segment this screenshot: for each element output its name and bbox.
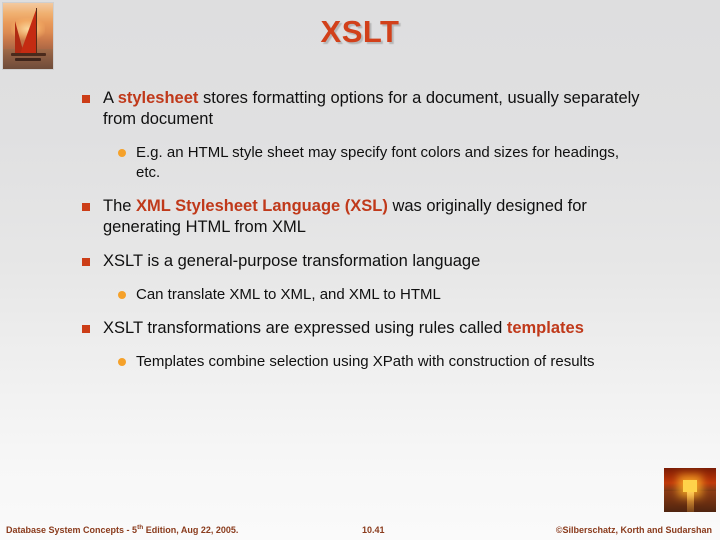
bullet-text: The XML Stylesheet Language (XSL) was or… [103, 197, 587, 236]
bullet-item-level1: XSLT is a general-purpose transformation… [82, 251, 650, 272]
dot-marker-icon [118, 149, 126, 157]
bullet-text-run: Templates combine selection using XPath … [136, 353, 595, 370]
bullet-highlight-term: XML Stylesheet Language (XSL) [136, 197, 388, 215]
bullet-item-level1: The XML Stylesheet Language (XSL) was or… [82, 196, 650, 238]
bullet-highlight-term: templates [507, 319, 584, 337]
bullet-text-run: The [103, 197, 136, 215]
bullet-item-level2: Templates combine selection using XPath … [118, 352, 645, 372]
dot-marker-icon [118, 291, 126, 299]
footer-edition-text: Database System Concepts - 5th Edition, … [6, 524, 238, 535]
bullet-text-run: E.g. an HTML style sheet may specify fon… [136, 144, 619, 181]
bullet-text-run: Can translate XML to XML, and XML to HTM… [136, 286, 441, 303]
bullet-text: XSLT is a general-purpose transformation… [103, 252, 480, 270]
hull-shape [11, 53, 46, 56]
square-marker-icon [82, 258, 90, 266]
square-marker-icon [82, 203, 90, 211]
bullet-highlight-term: stylesheet [118, 89, 199, 107]
slide-canvas: XSLT A stylesheet stores formatting opti… [0, 0, 720, 540]
bullet-text: A stylesheet stores formatting options f… [103, 89, 640, 128]
square-marker-icon [82, 325, 90, 333]
bullet-item-level1: A stylesheet stores formatting options f… [82, 88, 650, 130]
bullet-text-run: XSLT transformations are expressed using… [103, 319, 507, 337]
slide-title: XSLT [0, 14, 720, 50]
footer-edition-prefix: Database System Concepts - 5 [6, 525, 137, 535]
square-marker-icon [82, 95, 90, 103]
footer-slide-number: 10.41 [362, 525, 385, 535]
hull-lower-shape [15, 58, 41, 61]
bullet-text-run: XSLT is a general-purpose transformation… [103, 252, 480, 270]
bullet-text: Can translate XML to XML, and XML to HTM… [136, 286, 441, 303]
bullet-item-level2: E.g. an HTML style sheet may specify fon… [118, 143, 645, 183]
bullet-text: E.g. an HTML style sheet may specify fon… [136, 144, 619, 181]
bullet-list: A stylesheet stores formatting options f… [0, 88, 720, 385]
footer-copyright: ©Silberschatz, Korth and Sudarshan [556, 525, 712, 535]
bullet-text-run: A [103, 89, 118, 107]
sun-disc-decoration [683, 480, 697, 492]
bullet-item-level1: XSLT transformations are expressed using… [82, 318, 650, 339]
bullet-text: XSLT transformations are expressed using… [103, 319, 584, 337]
bullet-item-level2: Can translate XML to XML, and XML to HTM… [118, 285, 645, 305]
footer-edition-suffix: Edition, Aug 22, 2005. [143, 525, 238, 535]
sun-reflection-decoration [687, 492, 694, 512]
bullet-text: Templates combine selection using XPath … [136, 353, 595, 370]
sunset-over-water-photo [664, 468, 716, 512]
dot-marker-icon [118, 358, 126, 366]
